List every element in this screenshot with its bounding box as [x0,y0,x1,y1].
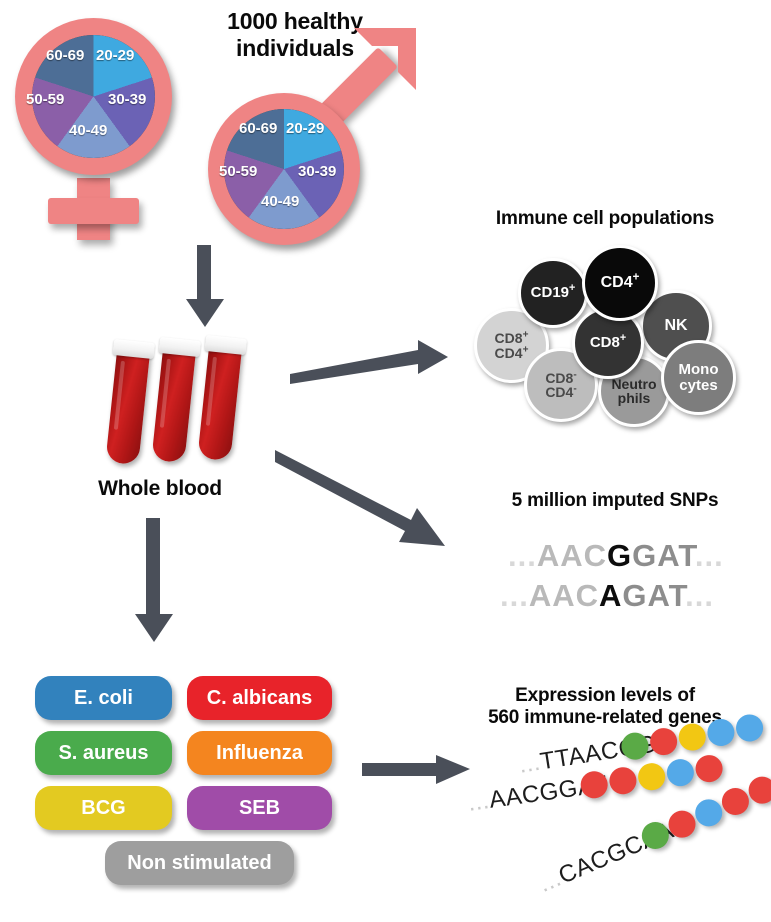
immune-cell-label: CD8+ CD4+ [495,331,529,360]
tube-body [197,346,242,461]
expression-heading-line1: Expression levels of [440,685,770,707]
strand-bead [665,757,695,787]
snp-allele-row-2: ...AACAGAT... [500,578,714,614]
tube-body [105,350,150,465]
arrow-blood-to-immune [290,330,450,390]
arrow-stimulation-to-expression [362,752,472,788]
snp-variant-base: A [599,578,622,613]
stimulation-box-non-stimulated[interactable]: Non stimulated [105,841,294,885]
stimulation-box-c-albicans[interactable]: C. albicans [187,676,332,720]
stimulation-label: S. aureus [58,742,148,765]
immune-cell-label: NK [664,318,687,334]
female-slice-label-30-39: 30-39 [108,91,146,108]
stimulation-label: BCG [81,797,125,820]
snp-suffix: ... [685,578,714,613]
immune-cell-label: CD4+ [601,275,640,291]
snp-variant-base: G [607,538,632,573]
snp-right-bases: GAT [632,538,695,573]
stimulation-box-seb[interactable]: SEB [187,786,332,830]
stimulation-box-s-aureus[interactable]: S. aureus [35,731,172,775]
arrow-blood-to-stimulation [132,518,176,644]
figure-canvas: 1000 healthy individuals 20-29 30-39 40-… [0,0,771,922]
snp-prefix: ... [508,538,537,573]
immune-cell-monocytes: Mono cytes [661,340,736,415]
male-slice-label-40-49: 40-49 [261,193,299,210]
snp-left-bases: AAC [537,538,607,573]
blood-tube-1 [105,350,150,465]
immune-cell-label: Mono cytes [679,362,719,393]
stimulation-label: SEB [239,797,280,820]
snp-allele-row-1: ...AACGGAT... [508,538,724,574]
immune-cell-label: Neutro phils [611,377,656,406]
whole-blood-label: Whole blood [60,477,260,502]
female-stem-horizontal [48,198,139,224]
snp-left-bases: AAC [529,578,599,613]
immune-cell-label: CD8- CD4- [545,371,576,400]
blood-tube-3 [197,346,242,461]
arrow-blood-to-snps [275,450,450,555]
immune-cell-label: CD19+ [531,285,576,300]
stimulation-box-bcg[interactable]: BCG [35,786,172,830]
snp-suffix: ... [695,538,724,573]
strand-bead [636,761,666,791]
male-arrow-head [340,22,420,102]
stimulation-box-influenza[interactable]: Influenza [187,731,332,775]
male-slice-label-50-59: 50-59 [219,163,257,180]
blood-tube-2 [151,348,196,463]
stimulation-label: Influenza [216,742,303,765]
stimulation-label: C. albicans [207,687,313,710]
immune-cell-cd19p: CD19+ [518,258,588,328]
snps-heading: 5 million imputed SNPs [455,490,771,512]
immune-cell-label: CD8+ [590,335,626,350]
female-slice-label-60-69: 60-69 [46,47,84,64]
tube-body [151,348,196,463]
stimulation-label: Non stimulated [127,852,271,875]
female-slice-label-50-59: 50-59 [26,91,64,108]
arrow-cohort-to-blood [183,245,227,329]
stimulation-box-e-coli[interactable]: E. coli [35,676,172,720]
snp-right-bases: GAT [622,578,685,613]
stimulation-label: E. coli [74,687,133,710]
female-slice-label-40-49: 40-49 [69,122,107,139]
strand-bead [608,765,638,795]
male-slice-label-20-29: 20-29 [286,120,324,137]
snp-prefix: ... [500,578,529,613]
male-slice-label-30-39: 30-39 [298,163,336,180]
immune-cell-cd4p: CD4+ [582,245,658,321]
strand-bead [694,753,724,783]
immune-heading: Immune cell populations [440,208,770,230]
female-slice-label-20-29: 20-29 [96,47,134,64]
male-slice-label-60-69: 60-69 [239,120,277,137]
